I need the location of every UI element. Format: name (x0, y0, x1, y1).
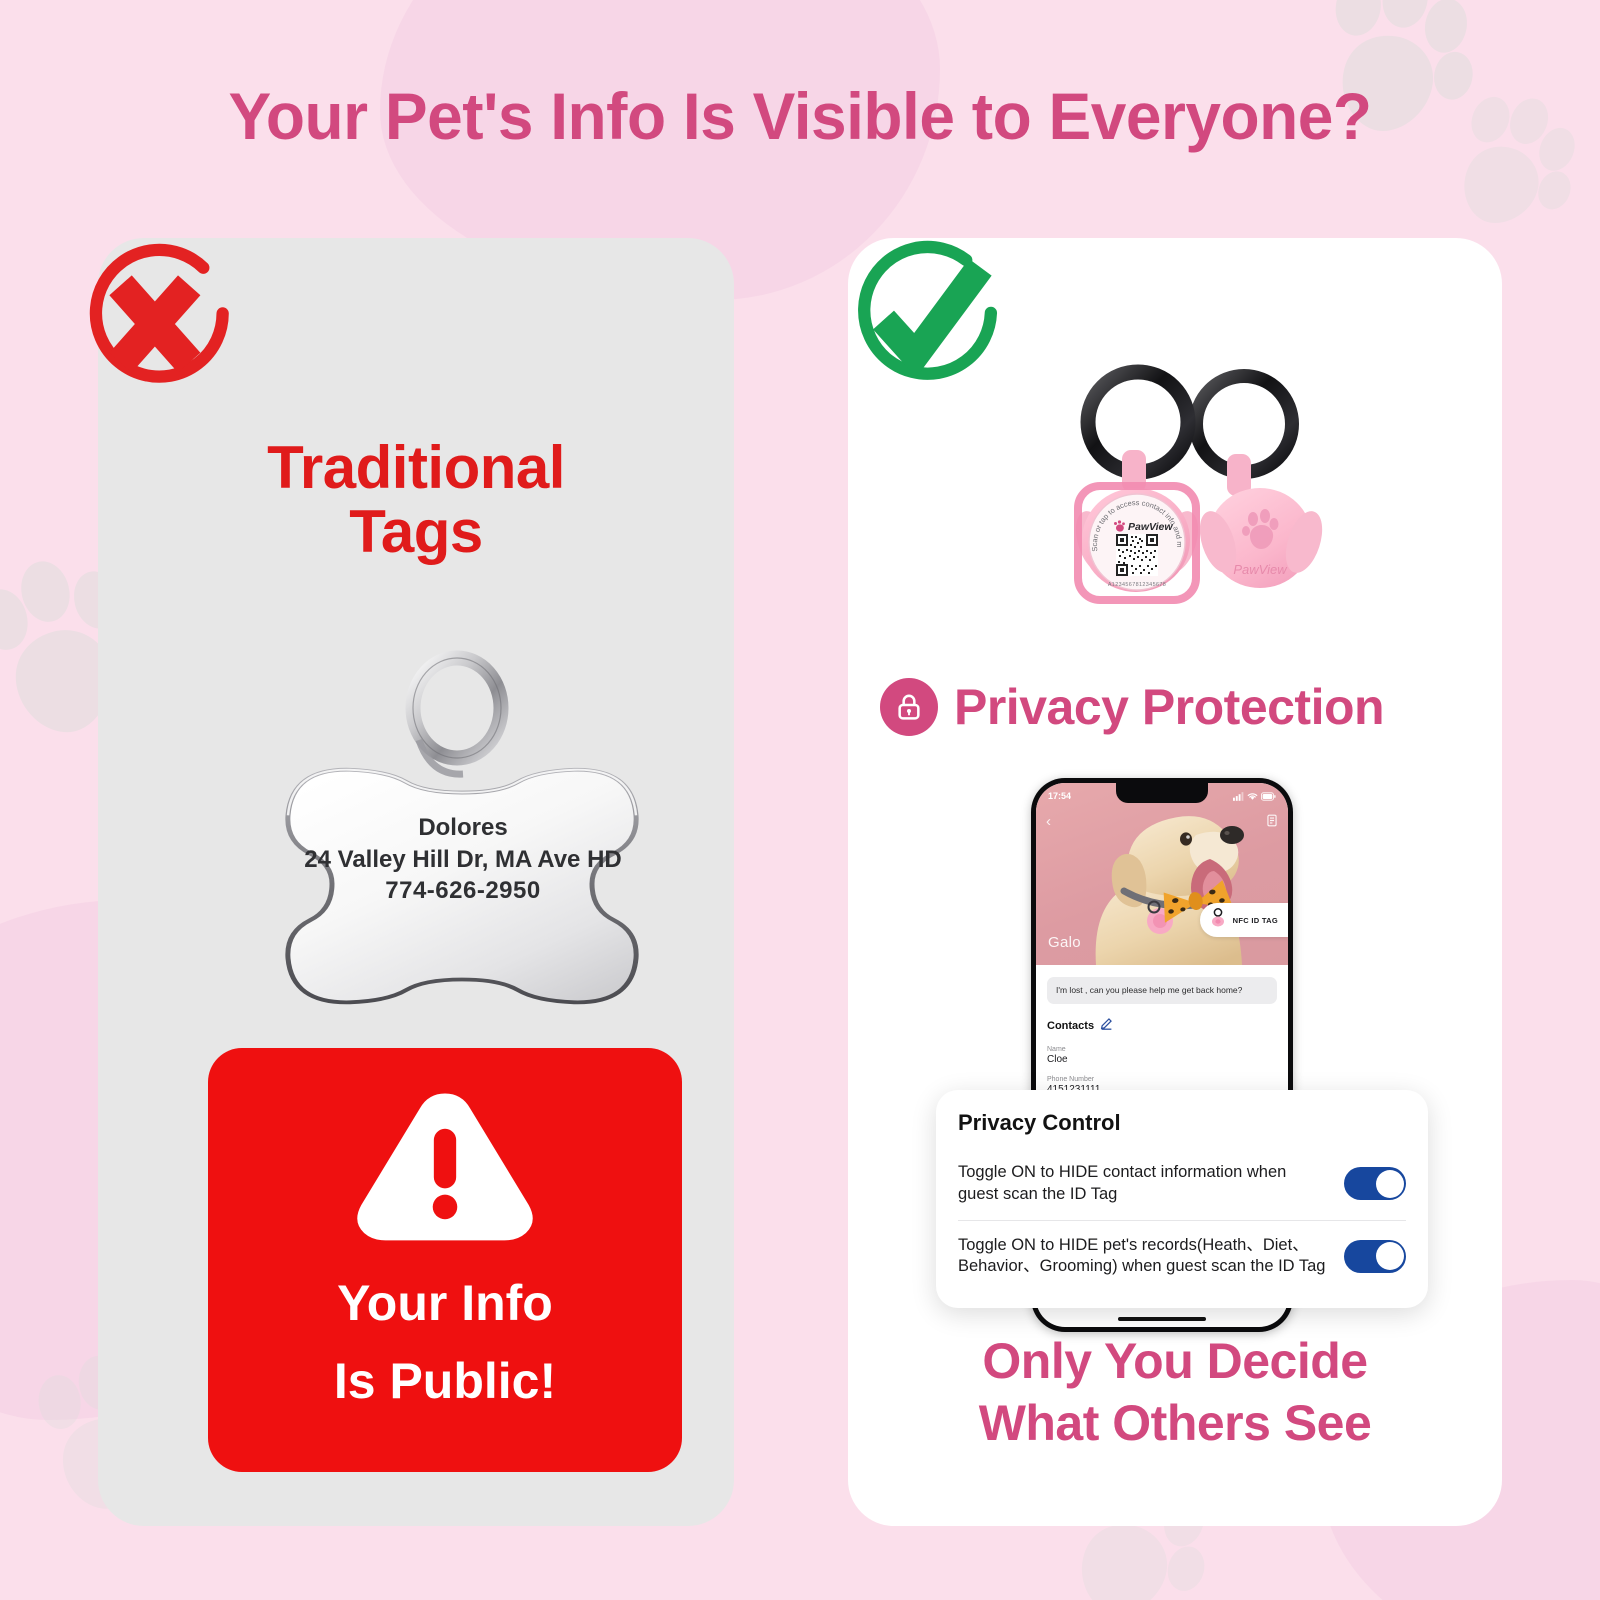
document-icon[interactable] (1266, 814, 1278, 832)
traditional-tags-heading-line2: Tags (98, 500, 734, 564)
privacy-row-text: Toggle ON to HIDE contact information wh… (958, 1162, 1330, 1206)
nfc-id-tag-label: NFC ID TAG (1233, 916, 1278, 925)
bone-tag-icon: Dolores 24 Valley Hill Dr, MA Ave HD 774… (248, 636, 678, 1006)
outro-line1: Only You Decide (848, 1330, 1502, 1392)
pencil-icon[interactable] (1100, 1017, 1113, 1035)
privacy-protection-label: Privacy Protection (954, 678, 1384, 736)
nfc-id-tag-badge[interactable]: NFC ID TAG (1200, 903, 1288, 937)
chevron-left-icon[interactable]: ‹ (1046, 813, 1051, 830)
warning-text: Your Info Is Public! (334, 1265, 556, 1420)
traditional-tags-heading: Traditional Tags (98, 436, 734, 564)
page-title: Your Pet's Info Is Visible to Everyone? (24, 78, 1576, 154)
privacy-protection-heading: Privacy Protection (880, 678, 1480, 736)
field-label: Phone Number (1047, 1076, 1277, 1083)
pawview-nfc-tag-icon: PawView Scan or tap to access contact in… (1022, 346, 1352, 646)
home-indicator (1118, 1317, 1206, 1321)
nfc-tag-icon (1210, 908, 1226, 932)
phone-status-bar: 17:54 (1036, 783, 1288, 805)
warning-line2: Is Public! (334, 1343, 556, 1421)
hide-contact-info-toggle[interactable] (1344, 1167, 1406, 1200)
outro-line2: What Others See (848, 1392, 1502, 1454)
field-label: Name (1047, 1046, 1277, 1053)
privacy-row-text: Toggle ON to HIDE pet's records(Heath、Di… (958, 1235, 1330, 1279)
warning-triangle-icon (352, 1082, 538, 1255)
privacy-control-row: Toggle ON to HIDE contact information wh… (958, 1148, 1406, 1220)
lost-message: I'm lost , can you please help me get ba… (1047, 977, 1277, 1004)
hide-pet-records-toggle[interactable] (1344, 1240, 1406, 1273)
svg-text:A1234567812345678: A1234567812345678 (1108, 582, 1166, 588)
circle-x-icon (66, 236, 242, 417)
signal-icon (1233, 792, 1244, 801)
pet-name: Galo (1048, 934, 1081, 951)
contact-field-name: Name Cloe (1047, 1046, 1277, 1065)
status-time: 17:54 (1048, 791, 1071, 801)
outro-message: Only You Decide What Others See (848, 1330, 1502, 1454)
phone-app-body: I'm lost , can you please help me get ba… (1036, 965, 1288, 1095)
warning-line1: Your Info (334, 1265, 556, 1343)
privacy-control-card: Privacy Control Toggle ON to HIDE contac… (936, 1090, 1428, 1308)
circle-check-icon (836, 232, 1012, 413)
toggle-knob (1376, 1242, 1404, 1270)
wifi-icon (1247, 792, 1258, 801)
info-public-warning-box: Your Info Is Public! (208, 1048, 682, 1472)
svg-text:PawView: PawView (1128, 521, 1173, 533)
contacts-label: Contacts (1047, 1020, 1094, 1032)
battery-icon (1261, 792, 1276, 801)
field-value: Cloe (1047, 1054, 1277, 1065)
privacy-control-title: Privacy Control (958, 1110, 1406, 1136)
svg-text:PawView: PawView (1233, 562, 1288, 577)
lock-icon (880, 678, 938, 736)
status-icons (1233, 792, 1276, 801)
contacts-section-header: Contacts (1047, 1017, 1277, 1035)
pet-hero-image: ‹ Galo NFC ID TAG (1036, 783, 1288, 965)
qr-code-icon (1116, 534, 1158, 576)
toggle-knob (1376, 1170, 1404, 1198)
privacy-control-row: Toggle ON to HIDE pet's records(Heath、Di… (958, 1220, 1406, 1293)
traditional-tags-heading-line1: Traditional (98, 436, 734, 500)
